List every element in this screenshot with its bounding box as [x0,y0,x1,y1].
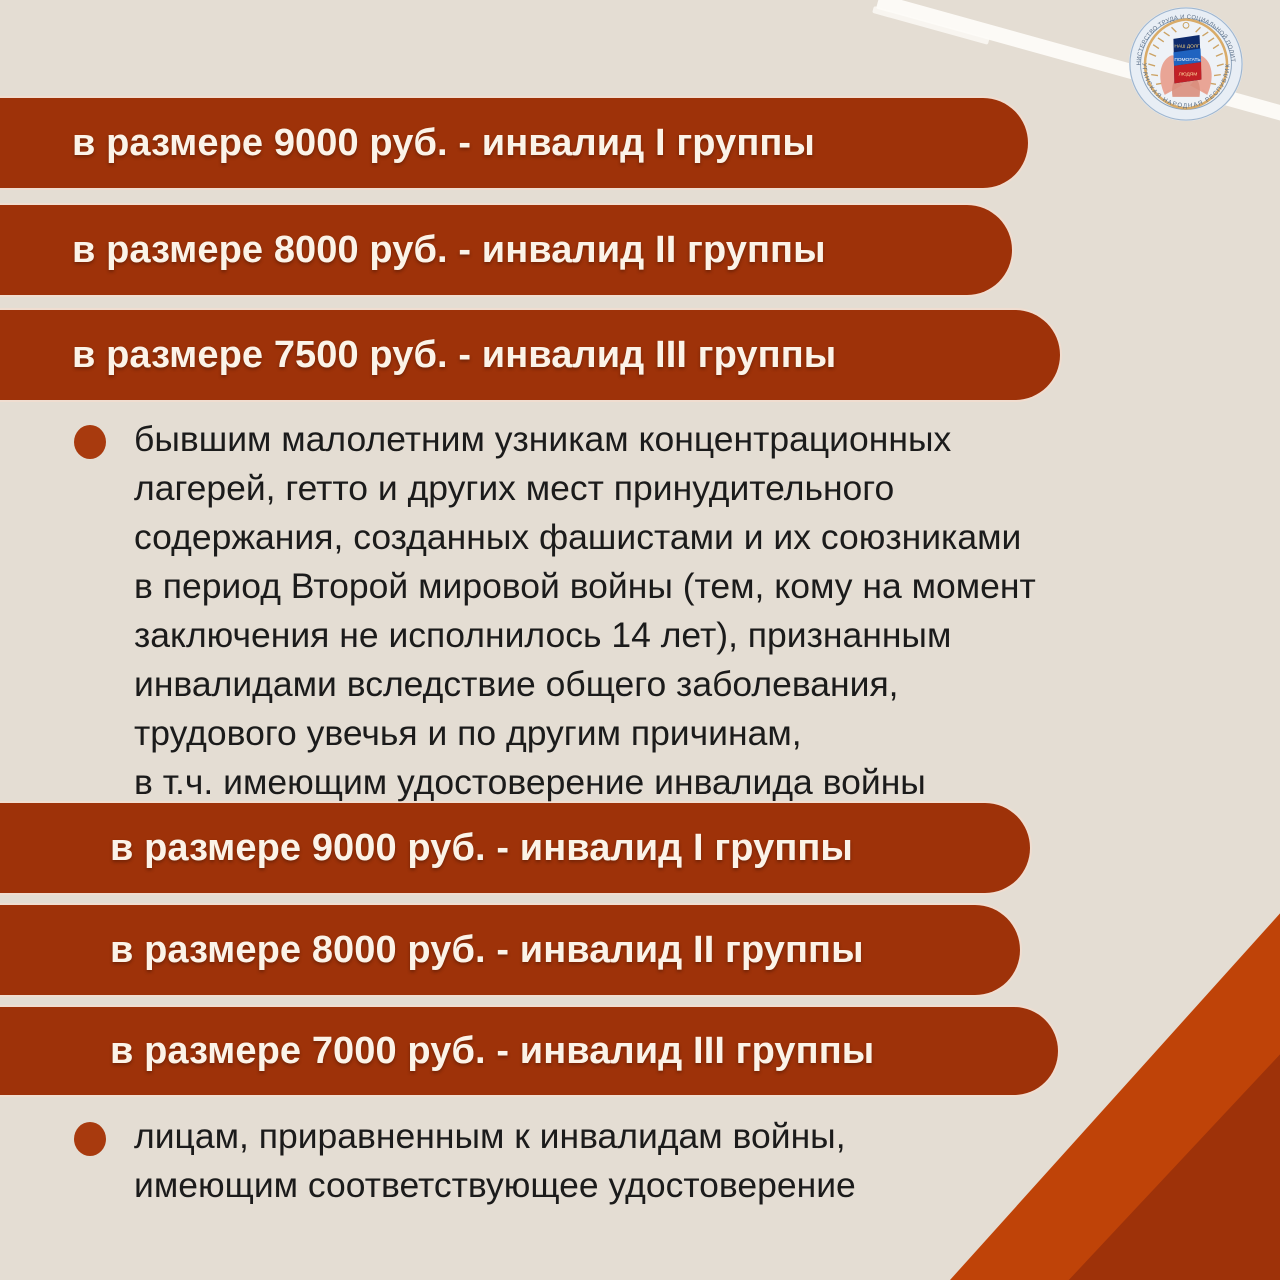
benefit-bar-5: в размере 8000 руб. - инвалид II группы [0,905,1020,995]
benefit-bar-5-label: в размере 8000 руб. - инвалид II группы [110,929,864,972]
benefit-bar-1-label: в размере 9000 руб. - инвалид I группы [72,122,815,165]
svg-text:ЛЮДЯМ: ЛЮДЯМ [1179,72,1198,78]
svg-text:НАШ ДОЛГ: НАШ ДОЛГ [1174,44,1200,50]
eligibility-note-2-text: лицам, приравненным к инвалидам войны, и… [134,1112,856,1210]
ministry-emblem-icon: НАШ ДОЛГ ПОМОГАТЬ ЛЮДЯМ МИНИСТЕРСТВО ТРУ… [1128,6,1244,122]
eligibility-note-2: лицам, приравненным к инвалидам войны, и… [74,1112,1194,1210]
benefit-bar-2: в размере 8000 руб. - инвалид II группы [0,205,1012,295]
benefit-bar-2-label: в размере 8000 руб. - инвалид II группы [72,229,826,272]
bullet-dot-icon [74,1122,106,1156]
benefit-bar-3-label: в размере 7500 руб. - инвалид III группы [72,334,836,377]
svg-text:ПОМОГАТЬ: ПОМОГАТЬ [1174,57,1200,63]
bullet-dot-icon [74,425,106,459]
benefit-bar-6-label: в размере 7000 руб. - инвалид III группы [110,1030,874,1073]
benefit-bar-6: в размере 7000 руб. - инвалид III группы [0,1007,1058,1095]
poster-canvas: НАШ ДОЛГ ПОМОГАТЬ ЛЮДЯМ МИНИСТЕРСТВО ТРУ… [0,0,1280,1280]
benefit-bar-3: в размере 7500 руб. - инвалид III группы [0,310,1060,400]
benefit-bar-4-label: в размере 9000 руб. - инвалид I группы [110,827,853,870]
eligibility-note-1: бывшим малолетним узникам концентрационн… [74,415,1254,807]
eligibility-note-1-text: бывшим малолетним узникам концентрационн… [134,415,1036,807]
benefit-bar-4: в размере 9000 руб. - инвалид I группы [0,803,1030,893]
benefit-bar-1: в размере 9000 руб. - инвалид I группы [0,98,1028,188]
diagonal-stripe-secondary-icon [872,6,990,45]
